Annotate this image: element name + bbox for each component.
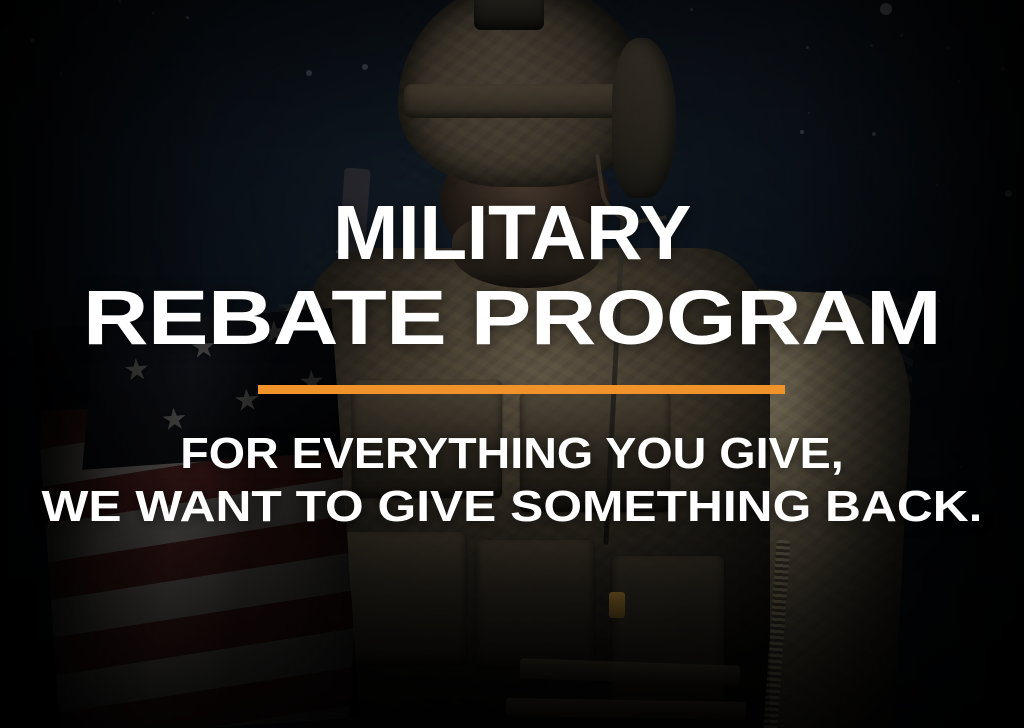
helmet-rail	[404, 84, 640, 118]
headline-line-2: REBATE PROGRAM	[0, 283, 1024, 354]
vest-pouch	[476, 540, 594, 668]
vest-pouch	[338, 532, 466, 664]
subheadline-line-2: WE WANT TO GIVE SOMETHING BACK.	[0, 485, 1024, 529]
military-rebate-banner: ★ ★ ★ ★ ★ ★ MILITARY REBATE PROGRAM FOR …	[0, 0, 1024, 728]
headline-line-1: MILITARY	[0, 198, 1024, 269]
subheadline-line-1: FOR EVERYTHING YOU GIVE,	[0, 432, 1024, 476]
accent-divider	[258, 385, 785, 394]
amber-clip-accent	[609, 592, 625, 618]
night-vision-mount-icon	[474, 0, 544, 30]
